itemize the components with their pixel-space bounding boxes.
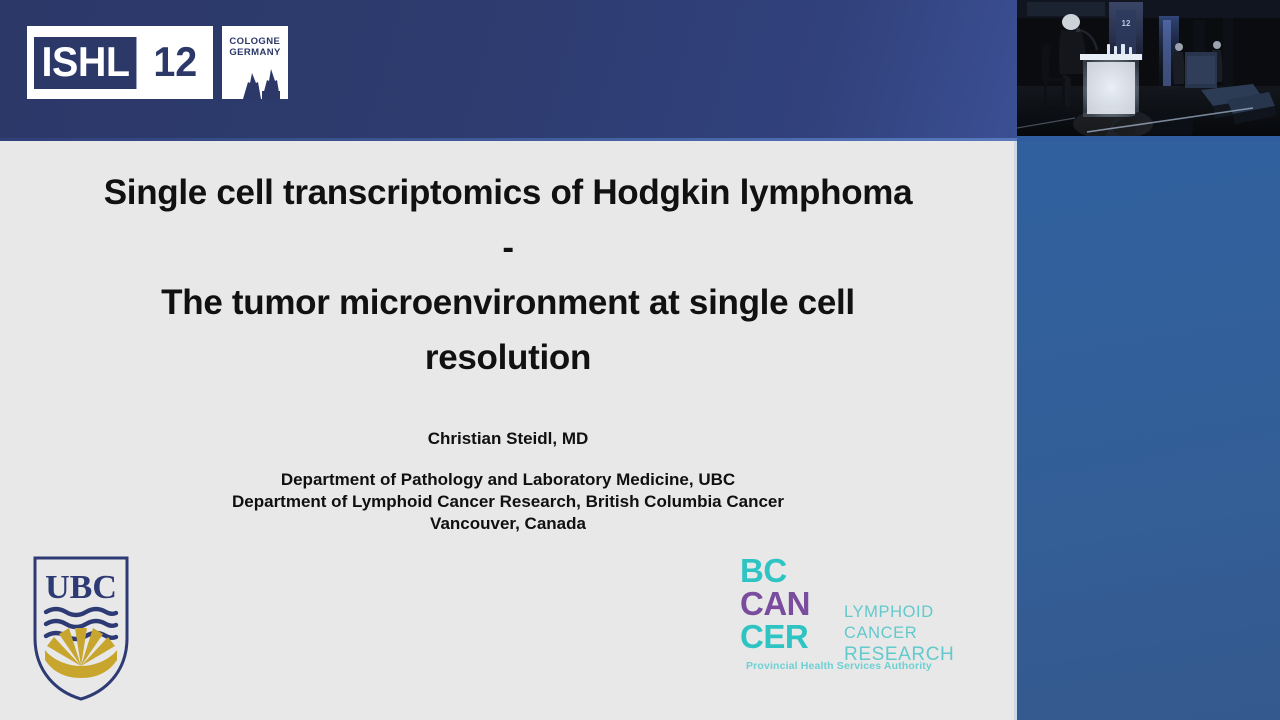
title-line-1: Single cell transcriptomics of Hodgkin l… — [22, 165, 994, 220]
title-line-2: - — [22, 220, 994, 275]
stage-scene-image: 12 — [1017, 0, 1280, 141]
slide-canvas: ISHL 12 COLOGNE GERMANY Single cell tran… — [0, 0, 1017, 720]
bc-cancer-row-bc: BC — [740, 554, 810, 587]
ubc-wordmark: UBC — [45, 569, 117, 606]
author-affiliation: Department of Pathology and Laboratory M… — [22, 469, 994, 535]
bc-cancer-logo: BC CAN CER LYMPHOID CANCER RESEARCH Prov… — [740, 554, 990, 684]
cologne-germany-label: COLOGNE GERMANY — [229, 36, 280, 58]
ishl-wordmark: ISHL — [34, 37, 136, 89]
affiliation-line-3: Vancouver, Canada — [22, 513, 994, 535]
author-block: Christian Steidl, MD Department of Patho… — [22, 428, 994, 535]
webcam-bottom-strip — [1017, 136, 1280, 142]
affiliation-line-1: Department of Pathology and Laboratory M… — [22, 469, 994, 491]
podium — [1080, 54, 1142, 117]
presentation-viewer: ISHL 12 COLOGNE GERMANY Single cell tran… — [0, 0, 1280, 720]
title-line-4: resolution — [22, 330, 994, 385]
title-line-3: The tumor microenvironment at single cel… — [22, 275, 994, 330]
cologne-germany-badge: COLOGNE GERMANY — [222, 26, 288, 99]
ishl-edition-number: 12 — [143, 37, 203, 89]
author-name: Christian Steidl, MD — [22, 428, 994, 450]
phsa-label: Provincial Health Services Authority — [746, 660, 932, 672]
svg-text:12: 12 — [1122, 19, 1131, 28]
lcr-line-1: LYMPHOID CANCER — [844, 602, 990, 644]
header-underline — [0, 138, 1017, 141]
ubc-logo: UBC — [31, 554, 131, 702]
lymphoid-cancer-research-label: LYMPHOID CANCER RESEARCH — [844, 602, 990, 665]
ishl-logo-mark: ISHL 12 — [27, 26, 213, 99]
bc-cancer-row-cer: CER — [740, 620, 810, 653]
cologne-cathedral-icon — [222, 69, 288, 99]
ishl12-logo: ISHL 12 COLOGNE GERMANY — [27, 26, 288, 99]
slide-title: Single cell transcriptomics of Hodgkin l… — [22, 165, 994, 385]
speaker-webcam-video[interactable]: 12 — [1017, 0, 1280, 141]
bc-cancer-row-can: CAN — [740, 587, 810, 620]
affiliation-line-2: Department of Lymphoid Cancer Research, … — [22, 491, 994, 513]
panel-left-edge — [1014, 141, 1017, 720]
bc-cancer-wordmark: BC CAN CER — [740, 554, 810, 653]
